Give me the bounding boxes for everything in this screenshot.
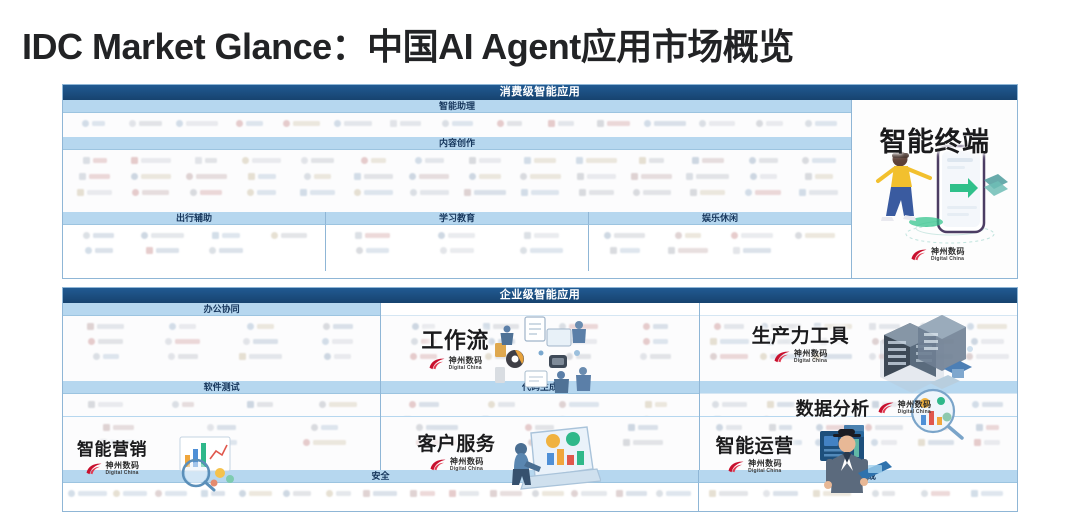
vendor-logo [67, 169, 123, 184]
vendor-logo [234, 153, 290, 168]
consumer-feature-terminal: 智能终端 神州数码 Digital China [852, 100, 1017, 278]
vendor-logo [151, 486, 193, 501]
vendor-logo [290, 185, 346, 200]
vendor-logo [593, 243, 657, 258]
vendor-logo [276, 486, 318, 501]
vendor-logo [67, 153, 123, 168]
consumer-col-header-travel: 出行辅助 [63, 212, 326, 225]
vendor-logo [569, 486, 611, 501]
vendor-logo [67, 185, 123, 200]
logo-grid-content [63, 150, 851, 212]
vendor-logo [485, 486, 527, 501]
vendor-logo [807, 435, 859, 450]
feature-badge-intelligent-terminal: 智能终端 [858, 120, 1011, 159]
logo-grid-customer-service [381, 416, 698, 470]
vendor-logo [961, 397, 1013, 412]
vendor-logo [755, 486, 807, 501]
vendor-logo [178, 185, 234, 200]
vendor-logo [360, 486, 402, 501]
vendor-logo [330, 228, 415, 243]
vendor-logo [401, 153, 457, 168]
vendor-logo [385, 397, 462, 412]
vendor-logo [67, 486, 109, 501]
vendor-logo [910, 397, 962, 412]
vendor-logo [755, 349, 807, 364]
vendor-logo [755, 420, 807, 435]
vendor-logo [910, 420, 962, 435]
vendor-logo [795, 116, 847, 131]
logo-grid-education [326, 225, 589, 271]
vendor-logo [385, 319, 462, 334]
vendor-logo [703, 486, 755, 501]
vendor-logo [617, 397, 694, 412]
vendor-logo [858, 349, 910, 364]
vendor-logo [806, 486, 858, 501]
vendor-logo [680, 185, 736, 200]
vendor-logo [194, 243, 258, 258]
consumer-section-header: 消费级智能应用 [63, 85, 1017, 100]
enterprise-header-blank-1 [381, 303, 698, 316]
vendor-logo [540, 349, 617, 364]
enterprise-column-1: 办公协同 软件测试 [63, 303, 381, 470]
vendor-logo [119, 116, 171, 131]
vendor-logo [192, 486, 234, 501]
vendor-logo [222, 397, 299, 412]
vendor-logo [961, 349, 1013, 364]
vendor-logo [540, 319, 617, 334]
vendor-logo [463, 319, 540, 334]
logo-grid-entertainment [589, 225, 851, 271]
vendor-logo [234, 169, 290, 184]
vendor-logo [910, 349, 962, 364]
logo-grid-marketing [63, 416, 380, 470]
vendor-logo [385, 420, 488, 435]
vendor-logo [144, 319, 221, 334]
consumer-row-header-assistant: 智能助理 [63, 100, 851, 113]
vendor-logo [385, 435, 488, 450]
vendor-logo [910, 435, 962, 450]
vendor-logo [657, 243, 721, 258]
vendor-logo [144, 397, 221, 412]
enterprise-header-software-test: 软件测试 [63, 381, 380, 394]
vendor-logo [123, 153, 179, 168]
vendor-logo [755, 412, 807, 416]
vendor-logo [587, 116, 639, 131]
enterprise-header-office: 办公协同 [63, 303, 380, 316]
vendor-logo [131, 243, 195, 258]
vendor-logo [457, 185, 513, 200]
vendor-logo [131, 228, 195, 243]
vendor-logo [807, 397, 859, 412]
vendor-logo [457, 153, 513, 168]
vendor-logo [144, 334, 221, 349]
vendor-logo [123, 185, 179, 200]
vendor-logo [858, 319, 910, 334]
vendor-logo [222, 334, 299, 349]
vendor-logo [346, 153, 402, 168]
vendor-logo [222, 349, 299, 364]
vendor-logo [415, 228, 500, 243]
vendor-logo [234, 486, 276, 501]
consumer-column-bodies [63, 225, 851, 271]
enterprise-header-blank-2 [700, 303, 1017, 316]
vendor-logo [67, 228, 131, 243]
consumer-panel: 消费级智能应用 智能助理 内容创作 出行辅助 学习教育 娱乐休闲 [62, 84, 1018, 279]
vendor-logo [704, 349, 756, 364]
vendor-logo [910, 334, 962, 349]
enterprise-panel: 企业级智能应用 办公协同 软件测试 [62, 287, 1018, 512]
vendor-logo [680, 153, 736, 168]
logo-grid-assistant [63, 113, 851, 137]
vendor-logo [67, 319, 144, 334]
vendor-logo [704, 435, 756, 450]
vendor-logo [223, 116, 275, 131]
vendor-logo [346, 169, 402, 184]
vendor-logo [67, 397, 144, 412]
enterprise-column-3: 生产力工具 神州数码 Digital China [700, 303, 1017, 470]
vendor-logo [273, 435, 376, 450]
vendor-logo [527, 486, 569, 501]
vendor-logo [568, 153, 624, 168]
vendor-logo [592, 435, 695, 450]
phone-ar-walking-person-art [864, 138, 1014, 248]
vendor-logo [170, 435, 273, 450]
vendor-logo [488, 420, 591, 435]
vendor-logo [910, 319, 962, 334]
vendor-logo [720, 228, 784, 243]
vendor-logo [385, 334, 462, 349]
vendor-logo [463, 349, 540, 364]
vendor-logo [483, 116, 535, 131]
vendor-logo [401, 169, 457, 184]
vendor-logo [735, 153, 791, 168]
logo-grid-software-test [63, 394, 380, 416]
vendor-logo [463, 412, 540, 416]
consumer-categories: 智能助理 内容创作 出行辅助 学习教育 娱乐休闲 [63, 100, 852, 278]
vendor-logo [109, 486, 151, 501]
vendor-logo [379, 116, 431, 131]
vendor-logo [617, 334, 694, 349]
logo-grid-office [63, 316, 380, 381]
vendor-logo [299, 319, 376, 334]
vendor-logo [755, 397, 807, 412]
vendor-logo [568, 169, 624, 184]
vendor-logo [222, 319, 299, 334]
vendor-logo [540, 334, 617, 349]
vendor-logo [385, 412, 462, 416]
vendor-logo [704, 412, 756, 416]
vendor-logo [540, 412, 617, 416]
vendor-logo [330, 243, 415, 258]
vendor-logo [593, 228, 657, 243]
vendor-logo [704, 397, 756, 412]
enterprise-column-2: 代码生成 [381, 303, 699, 470]
vendor-logo [652, 486, 694, 501]
vendor-logo [290, 169, 346, 184]
feature-title-intelligent-terminal: 智能终端 [880, 120, 990, 159]
market-glance-board: 消费级智能应用 智能助理 内容创作 出行辅助 学习教育 娱乐休闲 [62, 84, 1018, 512]
logo-grid-workflow [381, 316, 698, 381]
vendor-logo [784, 228, 848, 243]
enterprise-header-app-generation: 应用生成 [699, 470, 1017, 483]
logo-grid-operations [700, 416, 1017, 470]
vendor-logo [961, 486, 1013, 501]
vendor-logo [617, 412, 694, 416]
vendor-logo [657, 228, 721, 243]
vendor-logo [401, 185, 457, 200]
vendor-logo [858, 334, 910, 349]
vendor-logo [144, 349, 221, 364]
vendor-logo [299, 334, 376, 349]
enterprise-bottom-headers: 安全 应用生成 [63, 470, 1017, 483]
vendor-logo [610, 486, 652, 501]
vendor-logo [755, 319, 807, 334]
vendor-logo [858, 435, 910, 450]
enterprise-header-code-generation: 代码生成 [381, 381, 698, 394]
vendor-logo [535, 116, 587, 131]
vendor-logo [499, 228, 584, 243]
vendor-logo [299, 349, 376, 364]
vendor-logo [346, 185, 402, 200]
vendor-logo [720, 243, 784, 258]
vendor-logo [318, 486, 360, 501]
vendor-logo [735, 169, 791, 184]
vendor-logo [961, 435, 1013, 450]
vendor-logo [170, 420, 273, 435]
vendor-logo [327, 116, 379, 131]
vendor-logo [415, 243, 500, 258]
brand-name-cn: 神州数码 [931, 248, 965, 256]
vendor-logo [617, 349, 694, 364]
vendor-logo [540, 397, 617, 412]
vendor-logo [704, 334, 756, 349]
vendor-logo [961, 420, 1013, 435]
vendor-logo [178, 169, 234, 184]
vendor-logo [67, 116, 119, 131]
vendor-logo [691, 116, 743, 131]
vendor-logo [67, 243, 131, 258]
vendor-logo [807, 349, 859, 364]
vendor-logo [290, 153, 346, 168]
vendor-logo [704, 319, 756, 334]
vendor-logo [431, 116, 483, 131]
vendor-logo [624, 185, 680, 200]
logo-grid-code-generation [381, 394, 698, 416]
enterprise-header-security: 安全 [63, 470, 699, 483]
vendor-logo [67, 334, 144, 349]
vendor-logo [234, 185, 290, 200]
vendor-logo [791, 169, 847, 184]
vendor-logo [858, 420, 910, 435]
vendor-logo [258, 228, 322, 243]
vendor-logo [194, 228, 258, 243]
vendor-logo [513, 153, 569, 168]
logo-grid-app-generation [699, 483, 1017, 511]
vendor-logo [443, 486, 485, 501]
vendor-logo [385, 349, 462, 364]
vendor-logo [704, 420, 756, 435]
enterprise-header-blank-3 [700, 381, 1017, 394]
vendor-logo [178, 153, 234, 168]
logo-grid-data-analysis [700, 394, 1017, 416]
vendor-logo [961, 334, 1013, 349]
vendor-logo [791, 185, 847, 200]
vendor-logo [123, 169, 179, 184]
logo-grid-security [63, 483, 699, 511]
vendor-logo [273, 420, 376, 435]
enterprise-bottom-bodies [63, 483, 1017, 511]
enterprise-section-header: 企业级智能应用 [63, 288, 1017, 303]
vendor-logo [299, 397, 376, 412]
vendor-logo [463, 334, 540, 349]
vendor-logo [457, 169, 513, 184]
consumer-col-header-entertainment: 娱乐休闲 [589, 212, 851, 225]
brand-name-en: Digital China [931, 257, 965, 262]
vendor-logo [807, 319, 859, 334]
vendor-logo [680, 169, 736, 184]
vendor-logo [791, 153, 847, 168]
vendor-logo [735, 185, 791, 200]
vendor-logo [568, 185, 624, 200]
consumer-column-headers: 出行辅助 学习教育 娱乐休闲 [63, 212, 851, 225]
vendor-logo [807, 334, 859, 349]
vendor-logo [639, 116, 691, 131]
vendor-logo [499, 243, 584, 258]
page-title: IDC Market Glance：中国AI Agent应用市场概览 [22, 18, 794, 70]
logo-grid-travel [63, 225, 326, 271]
vendor-logo [488, 435, 591, 450]
vendor-logo [755, 334, 807, 349]
vendor-logo [275, 116, 327, 131]
vendor-logo [743, 116, 795, 131]
vendor-logo [858, 397, 910, 412]
vendor-logo [513, 169, 569, 184]
vendor-logo [755, 435, 807, 450]
vendor-logo [624, 153, 680, 168]
consumer-col-header-education: 学习教育 [326, 212, 589, 225]
vendor-logo [961, 319, 1013, 334]
vendor-logo [401, 486, 443, 501]
vendor-logo [910, 486, 962, 501]
vendor-logo [463, 397, 540, 412]
vendor-logo [67, 435, 170, 450]
brand-logo-terminal: 神州数码 Digital China [910, 248, 965, 262]
vendor-logo [624, 169, 680, 184]
vendor-logo [617, 319, 694, 334]
vendor-logo [807, 420, 859, 435]
vendor-logo [592, 420, 695, 435]
vendor-logo [171, 116, 223, 131]
digital-china-swoosh-icon [910, 248, 928, 262]
logo-grid-productivity [700, 316, 1017, 381]
vendor-logo [67, 420, 170, 435]
vendor-logo [858, 486, 910, 501]
consumer-row-header-content: 内容创作 [63, 137, 851, 150]
vendor-logo [67, 349, 144, 364]
vendor-logo [513, 185, 569, 200]
